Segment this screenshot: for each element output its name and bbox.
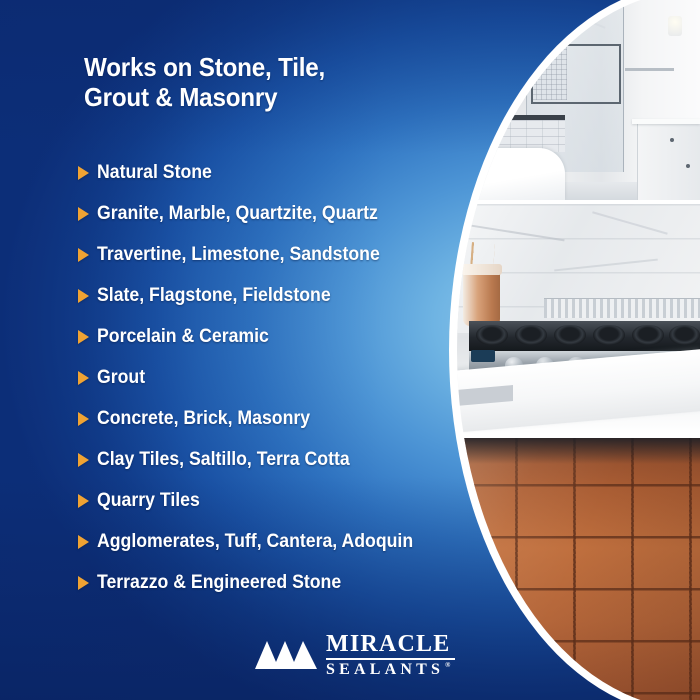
page-title-line-2: Grout & Masonry <box>84 82 391 112</box>
product-feature-graphic: Works on Stone, Tile, Grout & Masonry Na… <box>0 0 700 700</box>
list-item: Natural Stone <box>78 152 468 193</box>
three-peaks-icon <box>255 641 317 669</box>
list-item-label: Quarry Tiles <box>97 490 200 512</box>
arrow-right-icon <box>78 248 89 262</box>
surface-list: Natural Stone Granite, Marble, Quartzite… <box>78 152 468 603</box>
list-item: Terrazzo & Engineered Stone <box>78 562 468 603</box>
floor-shadow <box>440 438 700 464</box>
gas-burner <box>476 325 507 346</box>
list-item-label: Terrazzo & Engineered Stone <box>97 572 341 594</box>
towel-bar <box>625 68 674 71</box>
gas-burner <box>515 325 546 346</box>
logo-name-top: MIRACLE <box>326 632 455 656</box>
kitchen-scene <box>440 204 700 434</box>
logo-name-bottom: SEALANTS ® <box>326 662 455 678</box>
list-item-label: Natural Stone <box>97 162 212 184</box>
list-item-label: Clay Tiles, Saltillo, Terra Cotta <box>97 449 350 471</box>
vanity-countertop <box>632 119 700 124</box>
list-item: Travertine, Limestone, Sandstone <box>78 234 468 275</box>
content-column: Works on Stone, Tile, Grout & Masonry Na… <box>0 0 470 700</box>
list-item-label: Travertine, Limestone, Sandstone <box>97 244 380 266</box>
list-item: Quarry Tiles <box>78 480 468 521</box>
arrow-right-icon <box>78 289 89 303</box>
logo-divider <box>326 658 455 660</box>
wall-sconce <box>668 16 682 36</box>
arrow-right-icon <box>78 166 89 180</box>
list-item: Porcelain & Ceramic <box>78 316 468 357</box>
arrow-right-icon <box>78 412 89 426</box>
cabinet-knob <box>670 138 674 142</box>
list-item: Slate, Flagstone, Fieldstone <box>78 275 468 316</box>
cabinet-knob <box>686 164 690 168</box>
page-title: Works on Stone, Tile, Grout & Masonry <box>84 52 391 112</box>
arrow-right-icon <box>78 371 89 385</box>
arrow-right-icon <box>78 576 89 590</box>
logo-name-bottom-text: SEALANTS <box>326 662 444 678</box>
arrow-right-icon <box>78 535 89 549</box>
arrow-right-icon <box>78 453 89 467</box>
vanity-cabinet <box>637 124 700 200</box>
range-vent-grille <box>544 298 700 317</box>
gas-burner <box>554 325 585 346</box>
arrow-right-icon <box>78 207 89 221</box>
arrow-right-icon <box>78 330 89 344</box>
kitchen-range-photo <box>440 204 700 434</box>
page-title-line-1: Works on Stone, Tile, <box>84 52 391 82</box>
list-item: Agglomerates, Tuff, Cantera, Adoquin <box>78 521 468 562</box>
list-item: Concrete, Brick, Masonry <box>78 398 468 439</box>
brand-logo: MIRACLE SEALANTS ® <box>255 632 455 678</box>
list-item-label: Grout <box>97 367 145 389</box>
list-item-label: Agglomerates, Tuff, Cantera, Adoquin <box>97 531 413 553</box>
registered-trademark-icon: ® <box>445 662 454 669</box>
gas-burner <box>632 325 663 346</box>
list-item: Clay Tiles, Saltillo, Terra Cotta <box>78 439 468 480</box>
gas-burner <box>593 325 624 346</box>
arrow-right-icon <box>78 494 89 508</box>
logo-wordmark: MIRACLE SEALANTS ® <box>326 632 455 678</box>
list-item-label: Porcelain & Ceramic <box>97 326 269 348</box>
list-item-label: Granite, Marble, Quartzite, Quartz <box>97 203 378 225</box>
list-item: Granite, Marble, Quartzite, Quartz <box>78 193 468 234</box>
range-badge <box>471 350 494 362</box>
list-item-label: Slate, Flagstone, Fieldstone <box>97 285 331 307</box>
list-item: Grout <box>78 357 468 398</box>
list-item-label: Concrete, Brick, Masonry <box>97 408 310 430</box>
